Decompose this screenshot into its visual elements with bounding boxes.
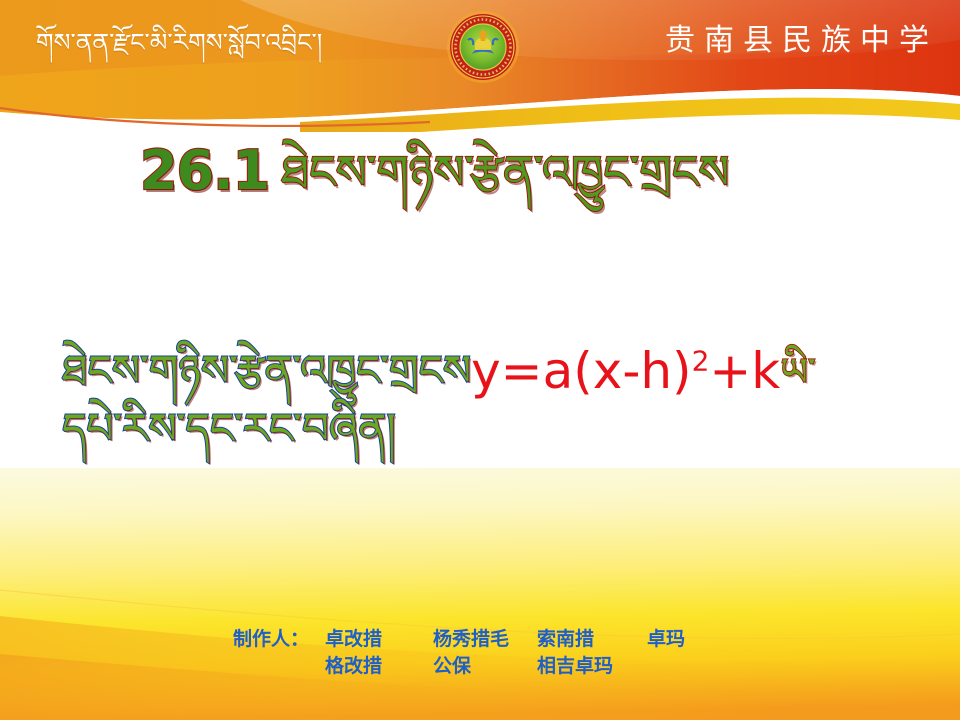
lower-gradient-backdrop xyxy=(0,468,960,720)
credit-name: 杨秀措毛 xyxy=(433,626,537,653)
body-line-2: དཔེ་རིས་དང་རང་བཞིན། xyxy=(62,402,902,456)
presentation-slide: གོས་ནན་རྫོང་མི་རིགས་སློབ་འབྲིང་། 贵南县民族中学 xyxy=(0,0,960,720)
body-content: ཐེངས་གཉིས་རྩེན་འཁྱུང་གྲངསy=a(x-h)2+kཡི་ … xyxy=(62,336,902,458)
credits-label: 制作人： xyxy=(233,626,325,653)
title-section-number: 26.1 xyxy=(140,144,269,198)
credit-name: 格改措 xyxy=(325,653,433,680)
lower-backdrop-graphic xyxy=(0,468,960,720)
body-tibetan-line1: ཐེངས་གཉིས་རྩེན་འཁྱུང་གྲངས xyxy=(62,346,471,395)
equation-suffix-tibetan: ཡི་ xyxy=(780,350,816,394)
equation-tail: +k xyxy=(709,342,780,400)
credit-name: 卓改措 xyxy=(325,626,433,653)
credit-name: 公保 xyxy=(433,653,537,680)
title-tibetan-text: ཐེངས་གཉིས་རྩེན་འཁྱུང་གྲངས xyxy=(281,148,729,196)
header-school-name-chinese: 贵南县民族中学 xyxy=(665,19,938,63)
body-tibetan-line2: དཔེ་རིས་དང་རང་བཞིན། xyxy=(62,404,396,453)
body-equation: y=a(x-h)2+k xyxy=(471,342,780,400)
credit-name: 索南措 xyxy=(537,626,647,653)
credit-row: 制作人：格改措公保相吉卓玛 xyxy=(0,653,960,680)
credit-row: 制作人：卓改措杨秀措毛索南措卓玛 xyxy=(0,626,960,653)
header-school-name-tibetan: གོས་ནན་རྫོང་མི་རིགས་སློབ་འབྲིང་། xyxy=(36,20,366,66)
credit-name: 卓玛 xyxy=(647,626,727,653)
equation-exponent: 2 xyxy=(692,344,710,377)
credit-name: 相吉卓玛 xyxy=(537,653,647,680)
footer-credits: 制作人：卓改措杨秀措毛索南措卓玛 制作人：格改措公保相吉卓玛 xyxy=(0,626,960,680)
slide-title: 26.1 ཐེངས་གཉིས་རྩེན་འཁྱུང་གྲངས xyxy=(140,128,880,198)
school-emblem-icon xyxy=(446,10,520,84)
equation-main: y=a(x-h) xyxy=(471,342,691,400)
body-line-1: ཐེངས་གཉིས་རྩེན་འཁྱུང་གྲངསy=a(x-h)2+kཡི་ xyxy=(62,336,902,400)
